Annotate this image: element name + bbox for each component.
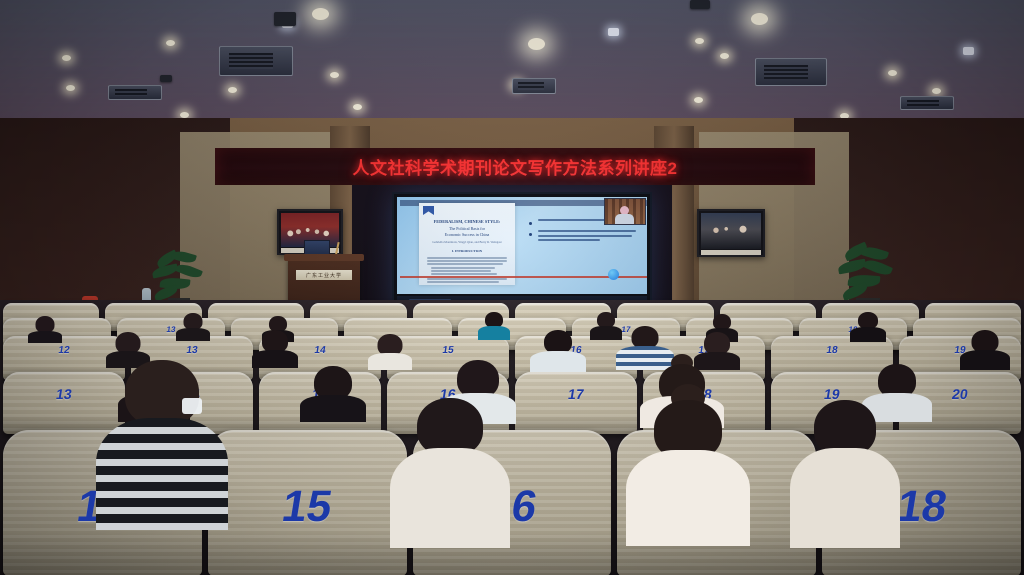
slide-bullet-2 <box>529 230 637 241</box>
attendee <box>300 366 366 422</box>
seat[interactable]: 17 <box>515 372 637 434</box>
seat-number: 17 <box>567 386 585 402</box>
attendee <box>368 334 412 370</box>
attendee-striped-foreground <box>96 360 228 530</box>
seat-number: 18 <box>893 482 950 532</box>
speaker-body <box>615 214 634 224</box>
attendee <box>960 330 1010 370</box>
doc-section: I. INTRODUCTION <box>452 249 482 253</box>
ceiling-downlight <box>62 55 71 61</box>
ceiling-speaker <box>160 75 172 82</box>
seat-number: 12 <box>58 345 71 356</box>
lecture-hall-photo: 人文社科学术期刊论文写作方法系列讲座2 FEDERALISM, CHINESE … <box>0 0 1024 575</box>
slide-document-panel: FEDERALISM, CHINESE STYLE: The Political… <box>419 203 515 285</box>
photo-caption-strip <box>701 250 761 255</box>
attendee <box>850 312 886 342</box>
seat[interactable]: 15 <box>208 430 407 575</box>
ceiling-downlight <box>751 13 768 25</box>
ceiling-downlight <box>932 88 941 94</box>
ceiling-downlight <box>228 87 237 93</box>
ceiling-downlight <box>312 8 329 20</box>
doc-title-line3: Economic Success in China <box>445 232 490 237</box>
seat-number: 13 <box>55 386 73 402</box>
doc-title-line2: The Political Basis for <box>449 226 485 231</box>
attendee <box>530 330 586 372</box>
ceiling-downlight <box>353 104 362 110</box>
ceiling-downlight <box>608 28 619 36</box>
doc-author: Gabriella Montinola, Yingyi Qian, and Ba… <box>432 240 501 244</box>
meeting-app-icon[interactable] <box>608 269 619 280</box>
ac-vent <box>512 78 556 94</box>
attendee-foreground <box>390 398 510 548</box>
ceiling-speaker <box>690 0 710 9</box>
ceiling-downlight <box>166 40 175 46</box>
ac-vent <box>108 85 162 100</box>
doc-title-line1: FEDERALISM, CHINESE STYLE: <box>434 219 501 224</box>
ac-vent <box>755 58 827 86</box>
ceiling-downlight <box>330 72 339 78</box>
seat-number: 13 <box>166 325 176 334</box>
attendee <box>478 312 510 340</box>
lectern-nameplate-text: 广东工业大学 <box>306 272 342 279</box>
lectern-top <box>284 254 364 261</box>
ceiling-downlight <box>695 38 704 44</box>
ceiling-downlight <box>963 47 974 55</box>
seat-number: 18 <box>826 345 839 356</box>
ac-vent <box>219 46 293 76</box>
seat-number: 15 <box>442 345 455 356</box>
webcam-thumbnail[interactable] <box>604 198 646 225</box>
seat-number: 13 <box>186 345 199 356</box>
attendee <box>176 313 210 341</box>
attendee-bun-foreground <box>626 390 750 546</box>
ceiling-downlight <box>888 70 897 76</box>
ceiling-downlight <box>528 38 545 50</box>
document-logo-icon <box>423 206 434 215</box>
group-photo-right <box>697 209 765 257</box>
seat-number: 14 <box>314 345 327 356</box>
attendee-foreground <box>790 400 900 548</box>
seat-number: 20 <box>951 386 969 402</box>
ceiling-speaker <box>274 12 296 26</box>
lectern-nameplate: 广东工业大学 <box>296 270 352 280</box>
slide-content: FEDERALISM, CHINESE STYLE: The Political… <box>397 197 647 294</box>
photo-image <box>701 213 761 249</box>
seat-number: 15 <box>279 482 336 532</box>
ceiling-downlight <box>694 97 703 103</box>
ceiling-downlight <box>66 85 75 91</box>
face-mask <box>182 398 202 414</box>
attendee <box>28 316 62 342</box>
ceiling-downlight <box>720 53 729 59</box>
projection-screen: FEDERALISM, CHINESE STYLE: The Political… <box>392 192 652 314</box>
attendee <box>252 330 298 368</box>
led-banner-text: 人文社科学术期刊论文写作方法系列讲座2 <box>353 154 678 179</box>
led-banner: 人文社科学术期刊论文写作方法系列讲座2 <box>215 148 815 185</box>
ac-vent <box>900 96 954 110</box>
